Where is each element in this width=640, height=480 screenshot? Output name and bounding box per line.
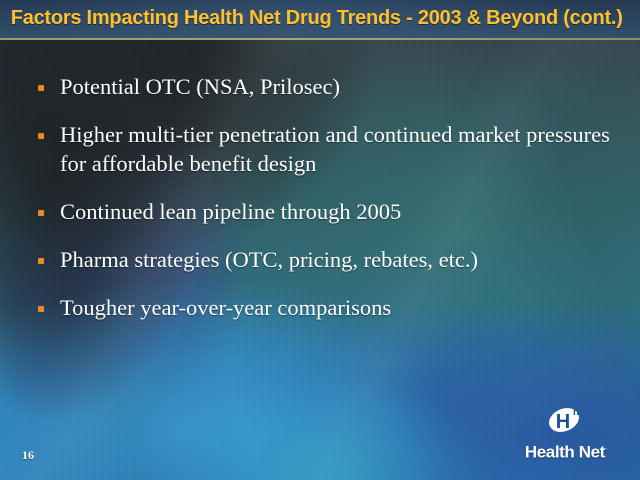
health-net-mark-icon: H n xyxy=(543,403,589,437)
logo-mark-superscript: n xyxy=(573,407,579,418)
list-item: Higher multi-tier penetration and contin… xyxy=(0,120,640,178)
logo-wordmark-text: Health Net xyxy=(525,443,605,462)
list-item: Potential OTC (NSA, Prilosec) xyxy=(0,72,640,101)
title-divider-rule xyxy=(0,38,640,40)
list-item-label: Continued lean pipeline through 2005 xyxy=(60,197,616,226)
list-item: Continued lean pipeline through 2005 xyxy=(0,197,640,226)
slide-title: Factors Impacting Health Net Drug Trends… xyxy=(0,0,624,32)
page-number: 16 xyxy=(22,448,34,462)
bullet-marker-icon xyxy=(38,133,44,139)
bullet-marker-icon xyxy=(38,210,44,216)
health-net-logo: H n Health Net· xyxy=(514,403,618,462)
list-item: Tougher year-over-year comparisons xyxy=(0,293,640,322)
slide: Factors Impacting Health Net Drug Trends… xyxy=(0,0,640,480)
bullet-marker-icon xyxy=(38,258,44,264)
list-item-label: Tougher year-over-year comparisons xyxy=(60,293,616,322)
list-item: Pharma strategies (OTC, pricing, rebates… xyxy=(0,245,640,274)
bullet-list: Potential OTC (NSA, Prilosec) Higher mul… xyxy=(0,72,640,341)
title-bar: Factors Impacting Health Net Drug Trends… xyxy=(0,0,640,38)
list-item-label: Potential OTC (NSA, Prilosec) xyxy=(60,72,616,101)
list-item-label: Higher multi-tier penetration and contin… xyxy=(60,120,616,178)
logo-mark-letter: H xyxy=(556,411,570,433)
logo-wordmark: Health Net· xyxy=(514,439,618,462)
bullet-marker-icon xyxy=(38,85,44,91)
bullet-marker-icon xyxy=(38,306,44,312)
logo-trademark-mark: · xyxy=(605,444,607,453)
list-item-label: Pharma strategies (OTC, pricing, rebates… xyxy=(60,245,616,274)
